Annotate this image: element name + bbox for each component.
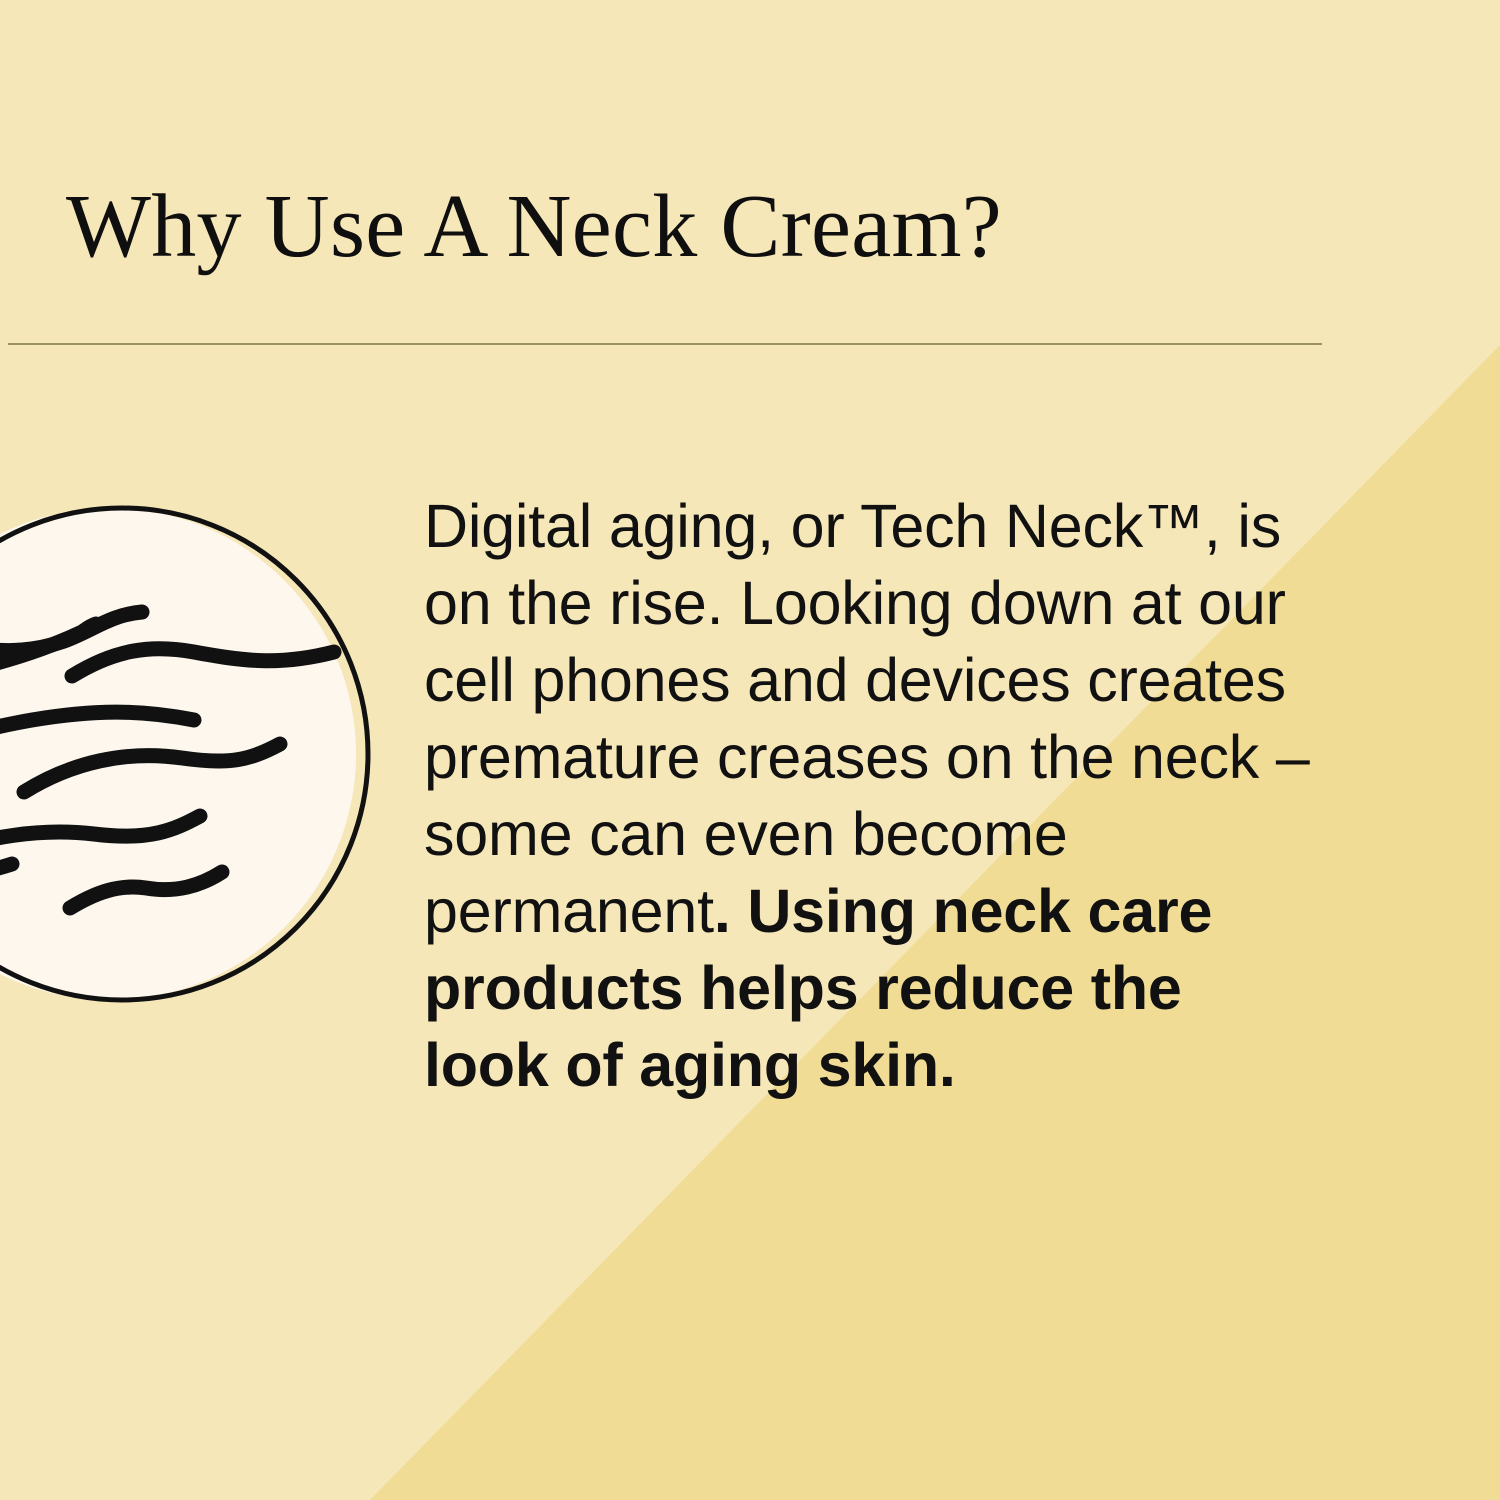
page-title: Why Use A Neck Cream? (66, 182, 1002, 272)
header-divider (8, 343, 1322, 345)
infographic-card: Why Use A Neck Cream? (0, 0, 1500, 1500)
body-paragraph: Digital aging, or Tech Neck™, is on the … (424, 488, 1314, 1104)
wrinkled-skin-illustration (0, 504, 372, 1004)
